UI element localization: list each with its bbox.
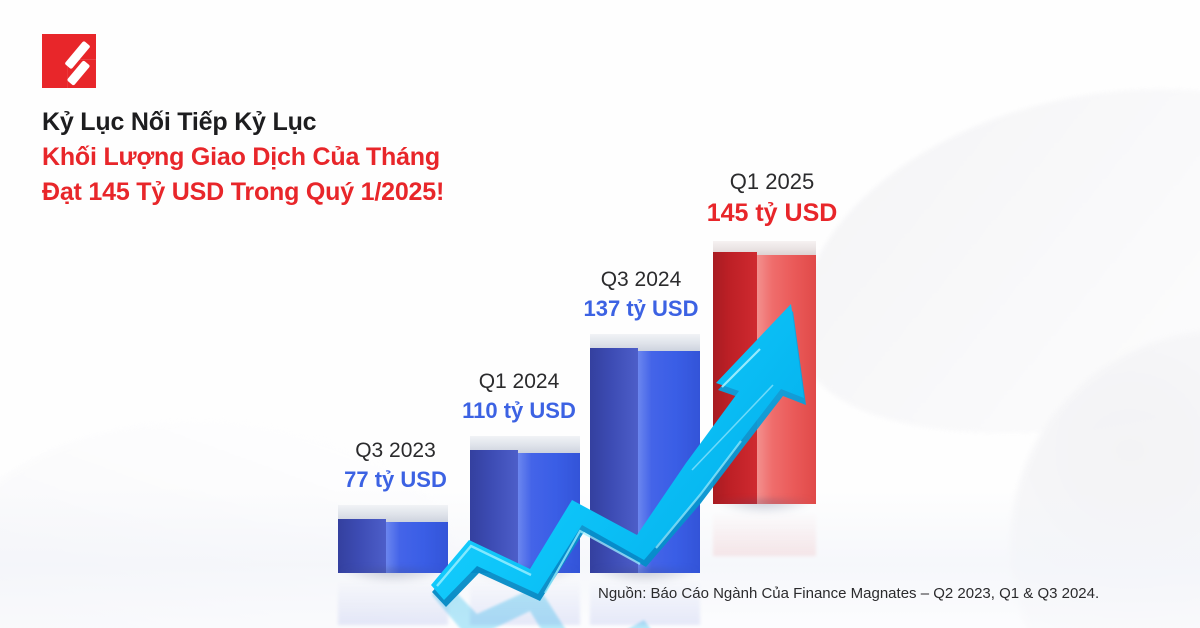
bar-right-face: [518, 453, 580, 573]
headline-line-1: Kỷ Lục Nối Tiếp Kỷ Lục: [42, 106, 444, 140]
brand-logo-icon: [42, 34, 96, 88]
bar-right-face: [757, 255, 816, 504]
label-value: 137 tỷ USD: [570, 294, 712, 324]
label-value: 110 tỷ USD: [448, 396, 590, 426]
label-value: 145 tỷ USD: [688, 197, 856, 231]
headline-line-3: Đạt 145 Tỷ USD Trong Quý 1/2025!: [42, 175, 444, 211]
label-q1-2025: Q1 2025 145 tỷ USD: [688, 167, 856, 230]
label-q1-2024: Q1 2024 110 tỷ USD: [448, 368, 590, 426]
bar-right-face: [386, 522, 448, 573]
label-period: Q1 2024: [448, 368, 590, 396]
label-q3-2023: Q3 2023 77 tỷ USD: [333, 437, 458, 495]
bar-left-face: [590, 348, 638, 573]
bar-q3-2024: [590, 334, 700, 573]
bar-q1-2025: [713, 241, 816, 504]
header-block: Kỷ Lục Nối Tiếp Kỷ Lục Khối Lượng Giao D…: [42, 34, 444, 211]
label-value: 77 tỷ USD: [333, 465, 458, 495]
label-period: Q1 2025: [688, 167, 856, 197]
bar-left-face: [470, 450, 518, 573]
bar-left-face: [713, 252, 757, 504]
bar-left-face: [338, 519, 386, 573]
bar-reflection: [713, 504, 816, 556]
label-q3-2024: Q3 2024 137 tỷ USD: [570, 266, 712, 324]
source-note: Nguồn: Báo Cáo Ngành Của Finance Magnate…: [598, 585, 1099, 602]
bar-q1-2024: [470, 436, 580, 573]
label-period: Q3 2023: [333, 437, 458, 465]
label-period: Q3 2024: [570, 266, 712, 294]
bar-right-face: [638, 351, 700, 573]
bar-reflection: [470, 573, 580, 625]
bar-reflection: [338, 573, 448, 625]
bar-q3-2023: [338, 505, 448, 573]
headline-line-2: Khối Lượng Giao Dịch Của Tháng: [42, 140, 444, 176]
